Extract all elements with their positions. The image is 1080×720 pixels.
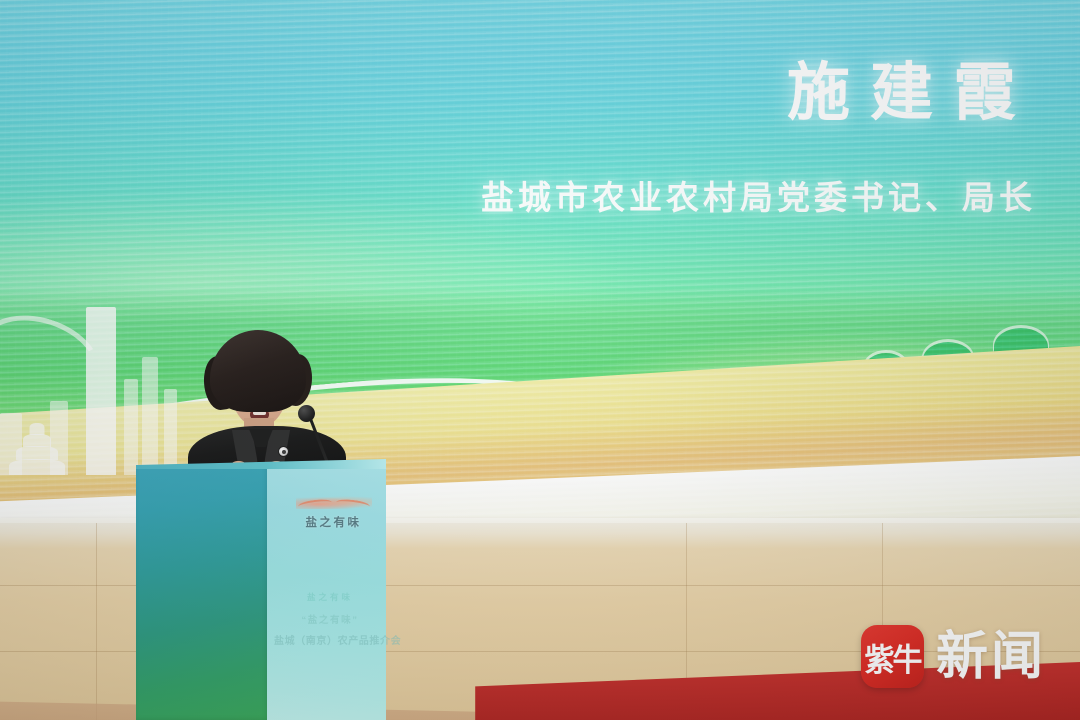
led-pagoda-tier (9, 459, 65, 475)
led-building (86, 307, 116, 475)
led-building (142, 357, 158, 475)
speaker-title-text: 盐城市农业农村局党委书记、局长 (481, 180, 1036, 216)
lapel-pin-icon (278, 446, 289, 457)
podium-logo-text: 盐之有味 (286, 514, 381, 530)
led-pagoda-tier (23, 434, 51, 447)
podium-side-panel (136, 463, 269, 720)
podium: 盐之有味 盐之有味 “盐之有味” 盐城（南京）农产品推介会 (136, 463, 386, 720)
led-pagoda (8, 423, 66, 475)
led-pagoda-tier (30, 423, 45, 435)
speaker-name-text: 施建霞 (787, 62, 1036, 125)
podium-logo: 盐之有味 (286, 496, 381, 530)
podium-text-line-3: 盐城（南京）农产品推介会 (274, 632, 386, 647)
ziniu-logo-icon: 紫牛 (861, 625, 924, 688)
news-watermark: 紫牛 新闻 (861, 625, 1046, 688)
led-pagoda-tier (16, 446, 58, 460)
speaker-hair (210, 330, 306, 412)
microphone-head-icon (298, 405, 315, 422)
led-building (124, 379, 138, 475)
podium-text-line-2: “盐之有味” (274, 612, 386, 626)
screenshot-root: 施建霞 盐城市农业农村局党委书记、局长 (0, 0, 1080, 720)
bird-wings-icon (296, 496, 372, 509)
watermark-badge-text: 紫牛 (864, 633, 920, 679)
podium-text-line-1: 盐之有味 (274, 591, 386, 603)
podium-event-text: 盐之有味 “盐之有味” 盐城（南京）农产品推介会 (274, 591, 386, 647)
watermark-word: 新闻 (936, 631, 1046, 683)
wall-seam-vertical (96, 523, 97, 720)
